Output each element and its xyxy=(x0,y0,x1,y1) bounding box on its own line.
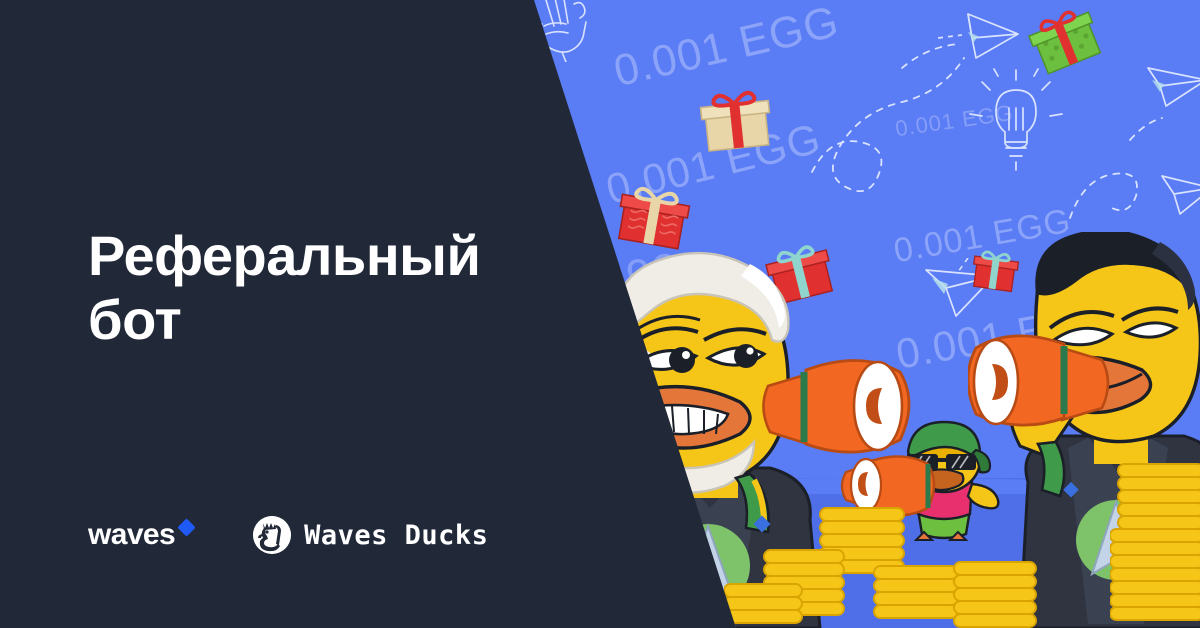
logo-row: waves Waves Ducks xyxy=(88,516,488,554)
waves-diamond-icon xyxy=(177,518,195,536)
dashed-squiggle-1 xyxy=(806,22,996,222)
gold-coin-stack-right xyxy=(1110,460,1200,628)
megaphone-icon-right xyxy=(968,330,1118,442)
gift-box-icon-1 xyxy=(697,84,775,155)
referral-bot-banner: 0.001 EGG 0.001 EGG 0.001 EGG 0.001 EGG … xyxy=(0,0,1200,628)
page-title: Реферальный бот xyxy=(88,224,528,352)
duck-avatar-icon xyxy=(253,516,291,554)
waves-ducks-wordmark: Waves Ducks xyxy=(304,520,488,551)
waves-ducks-logo[interactable]: Waves Ducks xyxy=(253,516,488,554)
waves-logo[interactable]: waves xyxy=(88,520,193,550)
dashed-squiggle-2 xyxy=(1060,108,1170,228)
waves-wordmark: waves xyxy=(88,520,175,550)
gold-coin-stack-mid xyxy=(950,548,1070,628)
